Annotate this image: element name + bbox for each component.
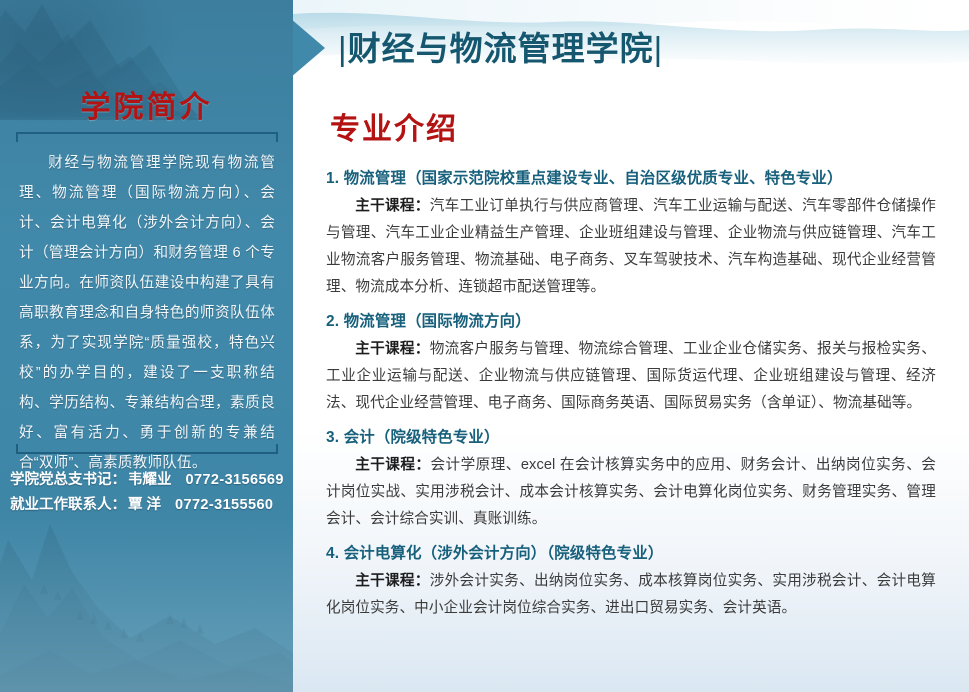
header-band: |财经与物流管理学院| (293, 0, 969, 98)
contact-row: 就业工作联系人： 覃 洋 0772-3155560 (10, 493, 288, 518)
sidebar-panel: 学院简介 财经与物流管理学院现有物流管理、物流管理（国际物流方向）、会计、会计电… (0, 0, 293, 692)
major-heading: 4. 会计电算化（涉外会计方向）（院级特色专业） (326, 541, 936, 566)
title-text: 财经与物流管理学院 (348, 30, 654, 67)
title-bar-right: | (654, 30, 664, 67)
major-sections-list: 1. 物流管理（国家示范院校重点建设专业、自治区级优质专业、特色专业） 主干课程… (326, 166, 936, 630)
course-label: 主干课程： (355, 341, 430, 357)
bracket-top-decoration (16, 132, 278, 142)
major-section: 4. 会计电算化（涉外会计方向）（院级特色专业） 主干课程：涉外会计实务、出纳岗… (326, 541, 936, 622)
major-section: 3. 会计（院级特色专业） 主干课程：会计学原理、excel 在会计核算实务中的… (326, 425, 936, 533)
sidebar-title: 学院简介 (0, 82, 293, 126)
contact-label: 就业工作联系人： (10, 493, 126, 518)
major-heading: 2. 物流管理（国际物流方向） (326, 309, 936, 334)
page-title: |财经与物流管理学院| (338, 22, 663, 70)
contact-phone: 0772-3156569 (186, 468, 284, 493)
course-label: 主干课程： (355, 573, 430, 589)
header-arrow-decoration (293, 0, 325, 96)
major-body: 主干课程：物流客户服务与管理、物流综合管理、工业企业仓储实务、报关与报检实务、工… (326, 336, 936, 417)
major-body: 主干课程：涉外会计实务、出纳岗位实务、成本核算岗位实务、实用涉税会计、会计电算化… (326, 568, 936, 622)
contact-row: 学院党总支书记： 韦耀业 0772-3156569 (10, 468, 288, 493)
section-title: 专业介绍 (330, 104, 458, 148)
college-brief-text: 财经与物流管理学院现有物流管理、物流管理（国际物流方向）、会计、会计电算化（涉外… (19, 148, 275, 478)
poster-page: 学院简介 财经与物流管理学院现有物流管理、物流管理（国际物流方向）、会计、会计电… (0, 0, 969, 692)
major-body: 主干课程：会计学原理、excel 在会计核算实务中的应用、财务会计、出纳岗位实务… (326, 452, 936, 533)
contact-label: 学院党总支书记： (10, 468, 126, 493)
major-section: 2. 物流管理（国际物流方向） 主干课程：物流客户服务与管理、物流综合管理、工业… (326, 309, 936, 417)
major-section: 1. 物流管理（国家示范院校重点建设专业、自治区级优质专业、特色专业） 主干课程… (326, 166, 936, 301)
major-heading: 1. 物流管理（国家示范院校重点建设专业、自治区级优质专业、特色专业） (326, 166, 936, 191)
course-label: 主干课程： (355, 198, 430, 214)
contact-block: 学院党总支书记： 韦耀业 0772-3156569 就业工作联系人： 覃 洋 0… (10, 468, 288, 518)
contact-phone: 0772-3155560 (175, 493, 273, 518)
contact-name: 覃 洋 (128, 493, 161, 518)
course-label: 主干课程： (355, 457, 430, 473)
ink-mountain-bottom-decoration (0, 488, 293, 692)
major-heading: 3. 会计（院级特色专业） (326, 425, 936, 450)
college-brief-box: 财经与物流管理学院现有物流管理、物流管理（国际物流方向）、会计、会计电算化（涉外… (16, 132, 278, 454)
main-content-panel: |财经与物流管理学院| 专业介绍 1. 物流管理（国家示范院校重点建设专业、自治… (293, 0, 969, 692)
contact-name: 韦耀业 (128, 468, 172, 493)
major-body: 主干课程：汽车工业订单执行与供应商管理、汽车工业运输与配送、汽车零部件仓储操作与… (326, 193, 936, 301)
title-bar-left: | (338, 30, 348, 67)
